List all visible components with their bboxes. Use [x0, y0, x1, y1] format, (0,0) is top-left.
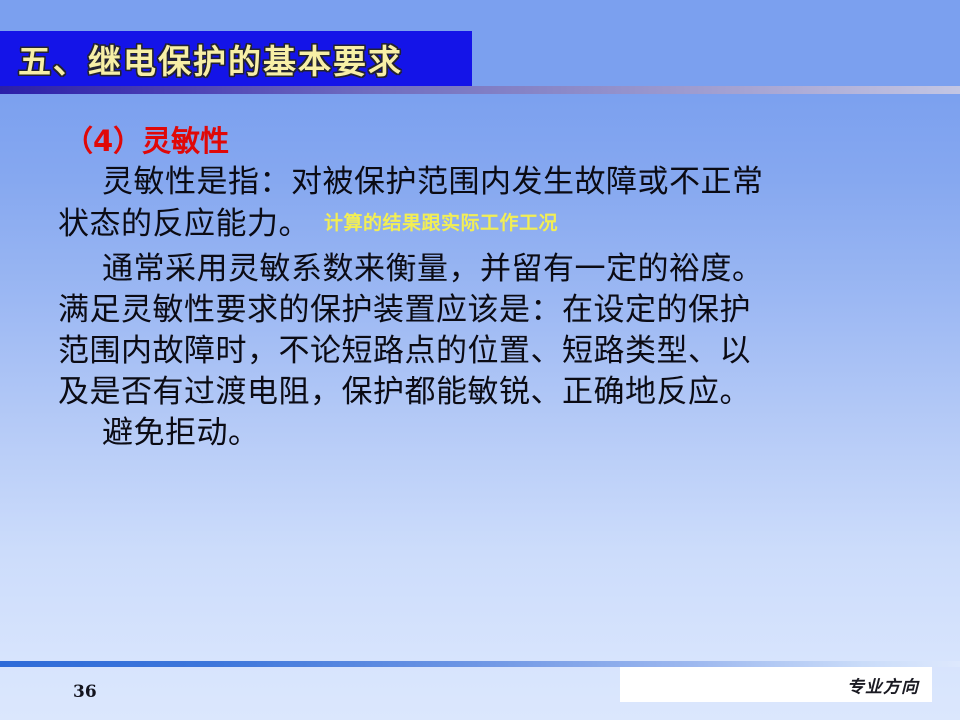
- page-number: 36: [73, 682, 97, 702]
- yellow-annotation: 计算的结果跟实际工作工况: [310, 212, 558, 234]
- slide-title-text: 五、继电保护的基本要求: [18, 35, 403, 83]
- paragraph-line: 满足灵敏性要求的保护装置应该是：在设定的保护: [58, 290, 914, 331]
- slide-canvas: 五、继电保护的基本要求 （4）灵敏性 灵敏性是指：对被保护范围内发生故障或不正常…: [0, 0, 960, 720]
- banner-decorative-stripe: [0, 86, 960, 94]
- slide-body: （4）灵敏性 灵敏性是指：对被保护范围内发生故障或不正常 状态的反应能力。计算的…: [58, 122, 914, 454]
- paragraph-p2: 通常采用灵敏系数来衡量，并留有一定的裕度。 满足灵敏性要求的保护装置应该是：在设…: [58, 249, 914, 413]
- paragraph-line: 避免拒动。: [58, 413, 914, 454]
- section-heading: （4）灵敏性: [64, 122, 914, 160]
- paragraph-line: 范围内故障时，不论短路点的位置、短路类型、以: [58, 331, 914, 372]
- paragraph-line: 及是否有过渡电阻，保护都能敏锐、正确地反应。: [58, 372, 914, 413]
- paragraph-line: 通常采用灵敏系数来衡量，并留有一定的裕度。: [58, 249, 914, 290]
- footer-label-box: 专业方向: [620, 667, 932, 702]
- paragraph-line-with-annotation: 状态的反应能力。计算的结果跟实际工作工况: [58, 203, 914, 245]
- paragraph-line: 灵敏性是指：对被保护范围内发生故障或不正常: [58, 162, 914, 203]
- paragraph-p3: 避免拒动。: [58, 413, 914, 454]
- slide-title-banner: 五、继电保护的基本要求: [0, 31, 472, 86]
- paragraph-p1: 灵敏性是指：对被保护范围内发生故障或不正常 状态的反应能力。计算的结果跟实际工作…: [58, 162, 914, 245]
- paragraph-line-text: 状态的反应能力。: [58, 206, 310, 242]
- footer-label-text: 专业方向: [847, 672, 919, 697]
